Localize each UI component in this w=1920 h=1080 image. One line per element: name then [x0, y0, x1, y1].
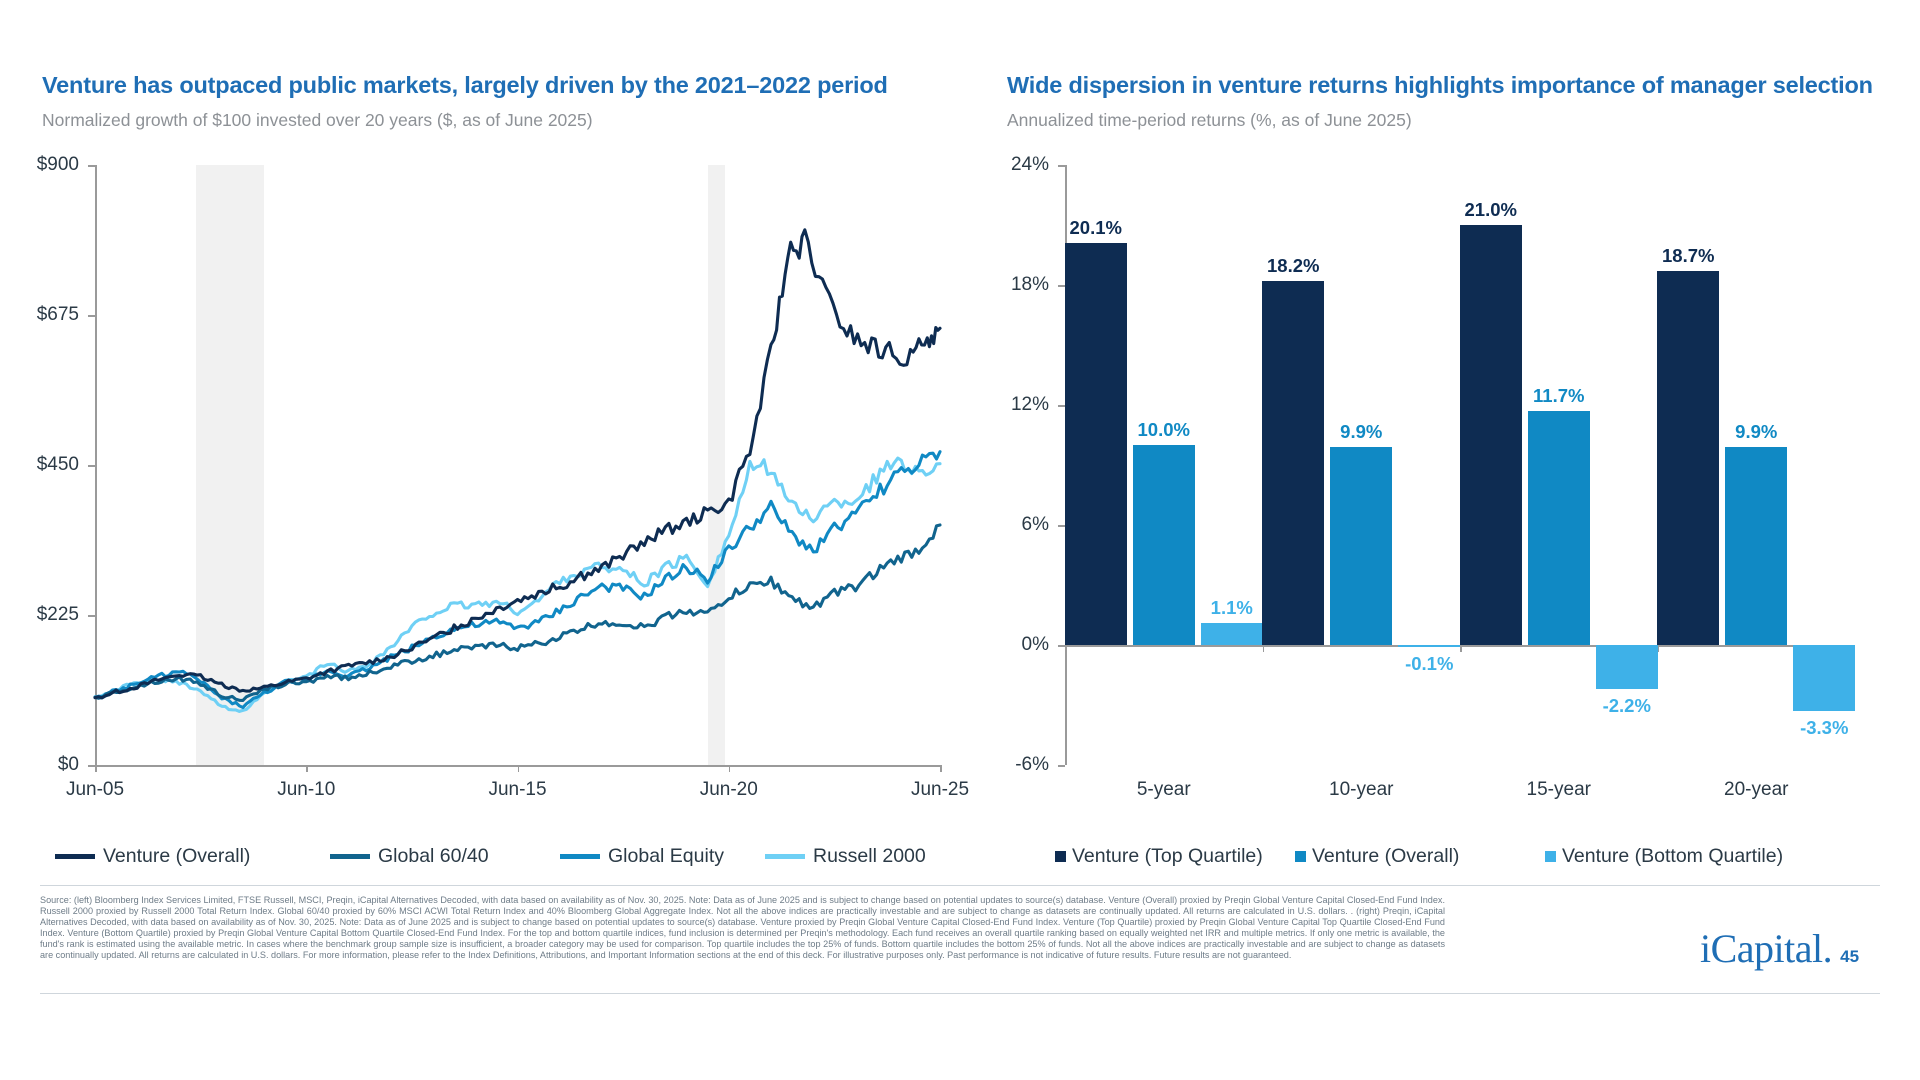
left-chart-subtitle: Normalized growth of $100 invested over … [42, 110, 593, 131]
y-axis-tick [1058, 645, 1065, 647]
x-axis-tick [1658, 645, 1660, 652]
legend-item-global-60-40[interactable]: Global 60/40 [330, 845, 489, 868]
bar-value-label: 9.9% [1340, 421, 1382, 443]
x-axis-tick-label: Jun-15 [488, 779, 546, 801]
legend-swatch-icon [1055, 851, 1066, 862]
legend-item-venture-top-quartile[interactable]: Venture (Top Quartile) [1055, 845, 1263, 868]
bar-10-year-venture-top-quartile[interactable] [1262, 281, 1324, 645]
bar-value-label: 1.1% [1211, 597, 1253, 619]
y-axis-tick-label: 6% [1022, 514, 1049, 536]
y-axis-tick [1058, 765, 1065, 767]
y-axis-tick [88, 165, 95, 167]
x-axis-tick [306, 765, 308, 772]
left-chart-title: Venture has outpaced public markets, lar… [42, 72, 888, 99]
x-axis-category-label: 15-year [1527, 779, 1591, 801]
x-axis-category-label: 10-year [1329, 779, 1393, 801]
legend-item-venture-overall[interactable]: Venture (Overall) [55, 845, 250, 868]
legend-item-venture-overall[interactable]: Venture (Overall) [1295, 845, 1459, 868]
y-axis-tick-label: $225 [37, 604, 79, 626]
legend-label: Global 60/40 [378, 845, 489, 868]
bar-10-year-venture-bottom-quartile[interactable] [1398, 645, 1460, 647]
bar-value-label: 20.1% [1070, 217, 1122, 239]
bar-15-year-venture-top-quartile[interactable] [1460, 225, 1522, 645]
x-axis-tick [95, 765, 97, 772]
source-footnote: Source: (left) Bloomberg Index Services … [40, 895, 1445, 962]
legend-swatch-icon [560, 854, 600, 859]
right-chart-subtitle: Annualized time-period returns (%, as of… [1007, 110, 1412, 131]
bar-value-label: 18.7% [1662, 245, 1714, 267]
x-axis-tick-label: Jun-25 [911, 779, 969, 801]
bar-value-label: 11.7% [1533, 385, 1584, 407]
bar-20-year-venture-overall[interactable] [1725, 447, 1787, 645]
y-axis-tick-label: 24% [1011, 154, 1049, 176]
legend-swatch-icon [1545, 851, 1556, 862]
x-axis-tick [1263, 645, 1265, 652]
bar-value-label: 21.0% [1465, 199, 1517, 221]
y-axis-tick-label: $675 [37, 304, 79, 326]
growth-of-100-plot: $900$675$450$225$0Jun-05Jun-10Jun-15Jun-… [95, 165, 940, 765]
bar-10-year-venture-overall[interactable] [1330, 447, 1392, 645]
bar-5-year-venture-top-quartile[interactable] [1065, 243, 1127, 645]
legend-item-global-equity[interactable]: Global Equity [560, 845, 724, 868]
bar-value-label: -3.3% [1800, 717, 1848, 739]
y-axis-tick-label: 0% [1022, 634, 1049, 656]
legend-label: Venture (Top Quartile) [1072, 845, 1263, 868]
bar-value-label: 9.9% [1735, 421, 1777, 443]
legend-label: Venture (Overall) [103, 845, 250, 868]
bar-5-year-venture-overall[interactable] [1133, 445, 1195, 645]
y-axis-tick [1058, 165, 1065, 167]
footer-divider-bottom [40, 993, 1880, 994]
legend-label: Venture (Overall) [1312, 845, 1459, 868]
y-axis-tick-label: 18% [1011, 274, 1049, 296]
x-axis-tick [518, 765, 520, 772]
legend-swatch-icon [765, 854, 805, 859]
footer-divider-top [40, 885, 1880, 886]
x-axis-category-label: 5-year [1137, 779, 1191, 801]
x-axis-tick-label: Jun-10 [277, 779, 335, 801]
line-series-canvas [95, 165, 940, 765]
x-axis-tick [729, 765, 731, 772]
right-chart-title: Wide dispersion in venture returns highl… [1007, 72, 1873, 99]
bar-5-year-venture-bottom-quartile[interactable] [1201, 623, 1263, 645]
y-axis-tick-label: -6% [1015, 754, 1049, 776]
y-axis-tick [88, 315, 95, 317]
x-axis-tick [940, 765, 942, 772]
legend-swatch-icon [1295, 851, 1306, 862]
x-axis-category-label: 20-year [1724, 779, 1788, 801]
left-chart-panel: Venture has outpaced public markets, lar… [0, 0, 985, 880]
bar-value-label: 10.0% [1138, 419, 1190, 441]
y-axis-tick-label: $0 [58, 754, 79, 776]
legend-label: Global Equity [608, 845, 724, 868]
page-number: 45 [1840, 947, 1859, 967]
dispersion-returns-plot: 24%18%12%6%0%-6%20.1%10.0%1.1%5-year18.2… [1065, 165, 1855, 765]
y-axis-tick [88, 465, 95, 467]
brand-block: iCapital. 45 [1700, 925, 1859, 972]
slide-root: Venture has outpaced public markets, lar… [0, 0, 1920, 1080]
legend-swatch-icon [55, 854, 95, 859]
bar-value-label: 18.2% [1267, 255, 1319, 277]
x-axis-tick-label: Jun-20 [700, 779, 758, 801]
y-axis-tick [88, 615, 95, 617]
legend-label: Russell 2000 [813, 845, 926, 868]
bar-value-label: -2.2% [1603, 695, 1651, 717]
bar-20-year-venture-top-quartile[interactable] [1657, 271, 1719, 645]
legend-label: Venture (Bottom Quartile) [1562, 845, 1783, 868]
right-chart-panel: Wide dispersion in venture returns highl… [985, 0, 1920, 880]
legend-swatch-icon [330, 854, 370, 859]
bar-15-year-venture-overall[interactable] [1528, 411, 1590, 645]
x-axis-tick [1460, 645, 1462, 652]
y-axis-tick [88, 765, 95, 767]
y-axis-tick-label: $900 [37, 154, 79, 176]
line-series-russell-2000 [95, 458, 940, 711]
bar-value-label: -0.1% [1405, 653, 1453, 675]
legend-item-russell-2000[interactable]: Russell 2000 [765, 845, 926, 868]
icapital-logo: iCapital. [1700, 925, 1832, 972]
y-axis-tick-label: 12% [1011, 394, 1049, 416]
legend-item-venture-bottom-quartile[interactable]: Venture (Bottom Quartile) [1545, 845, 1783, 868]
x-axis-tick-label: Jun-05 [66, 779, 124, 801]
bar-15-year-venture-bottom-quartile[interactable] [1596, 645, 1658, 689]
line-series-global-equity [95, 452, 940, 708]
y-axis-tick-label: $450 [37, 454, 79, 476]
bar-20-year-venture-bottom-quartile[interactable] [1793, 645, 1855, 711]
